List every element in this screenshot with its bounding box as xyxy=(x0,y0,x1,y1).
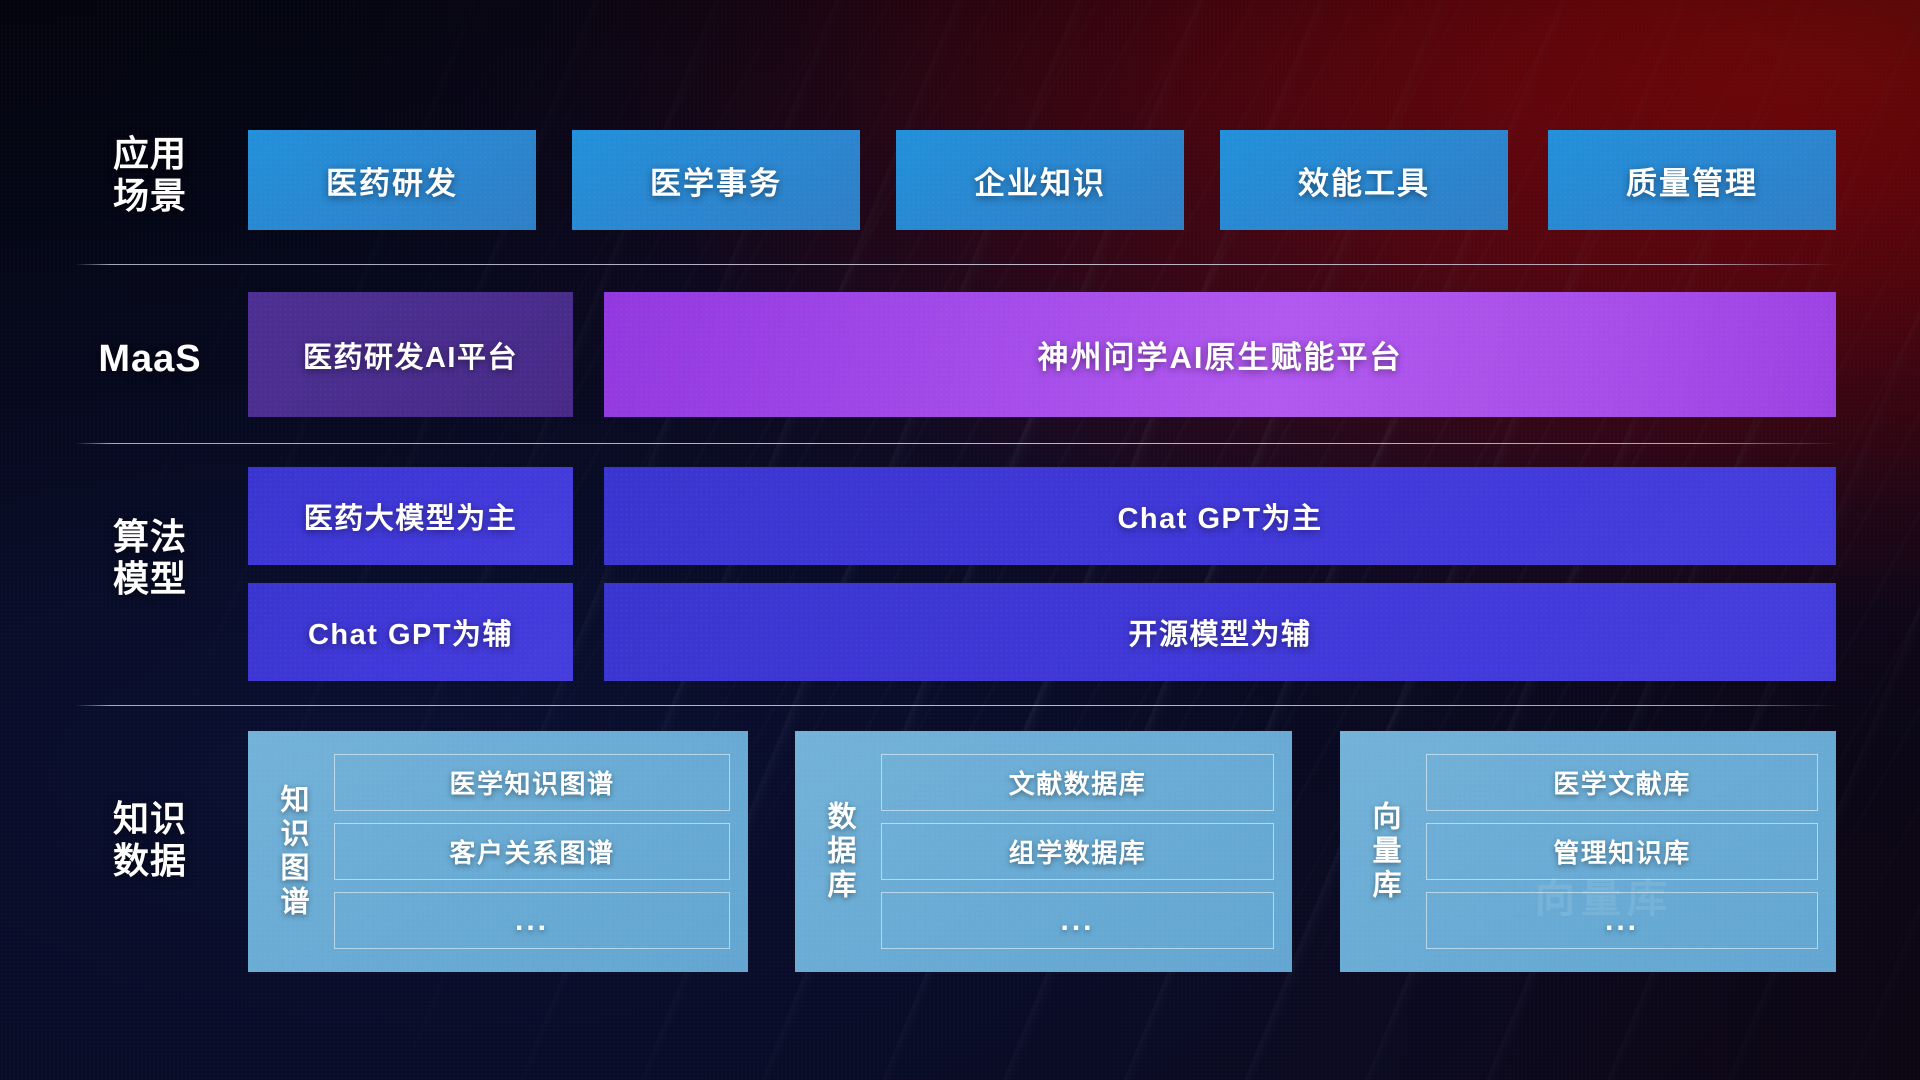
row-label-knowledge: 知识 数据 xyxy=(75,798,225,882)
maas-box-shenzhou-wenxue-platform[interactable]: 神州问学AI原生赋能平台 xyxy=(604,292,1836,417)
knowledge-item-more-vector[interactable]: ... xyxy=(1426,892,1818,949)
knowledge-item-more-database-label: ... xyxy=(1060,904,1094,938)
row-label-knowledge-line1: 知识 xyxy=(75,798,225,840)
row-label-algorithm-line1: 算法 xyxy=(75,516,225,558)
app-box-enterprise-knowledge[interactable]: 企业知识 xyxy=(896,130,1184,230)
knowledge-panel-knowledge-graph-side-label: 知识图谱 xyxy=(262,743,322,960)
knowledge-panel-knowledge-graph-items: 医学知识图谱 客户关系图谱 ... xyxy=(322,743,730,960)
knowledge-item-more-database[interactable]: ... xyxy=(881,892,1274,949)
architecture-diagram: 应用 场景 医药研发 医学事务 企业知识 效能工具 质量管理 MaaS 医药研发… xyxy=(0,0,1920,1080)
app-box-medical-affairs-label: 医学事务 xyxy=(650,158,782,203)
knowledge-panel-database-items: 文献数据库 组学数据库 ... xyxy=(869,743,1274,960)
knowledge-panel-database-side-label: 数据库 xyxy=(809,743,869,960)
knowledge-item-more-vector-label: ... xyxy=(1605,904,1639,938)
row-label-application-line2: 场景 xyxy=(75,175,225,217)
app-box-medical-rd-label: 医药研发 xyxy=(326,158,458,203)
maas-box-shenzhou-wenxue-platform-label: 神州问学AI原生赋能平台 xyxy=(1038,332,1403,377)
row-label-algorithm-line2: 模型 xyxy=(75,558,225,600)
algo-box-chatgpt-secondary-label: Chat GPT为辅 xyxy=(308,611,513,653)
knowledge-item-omics-database[interactable]: 组学数据库 xyxy=(881,823,1274,880)
app-box-quality-management-label: 质量管理 xyxy=(1626,158,1758,203)
app-box-enterprise-knowledge-label: 企业知识 xyxy=(974,158,1106,203)
row-label-application: 应用 场景 xyxy=(75,133,225,217)
maas-box-medical-rd-ai-platform-label: 医药研发AI平台 xyxy=(303,334,518,376)
divider-maas-algorithm xyxy=(75,443,1840,444)
knowledge-item-management-knowledge-store[interactable]: 管理知识库 xyxy=(1426,823,1818,880)
divider-algorithm-knowledge xyxy=(75,705,1840,706)
app-box-medical-rd[interactable]: 医药研发 xyxy=(248,130,536,230)
app-box-quality-management[interactable]: 质量管理 xyxy=(1548,130,1836,230)
algo-box-chatgpt-primary-label: Chat GPT为主 xyxy=(1117,495,1322,537)
knowledge-item-omics-database-label: 组学数据库 xyxy=(1009,833,1147,870)
app-box-medical-affairs[interactable]: 医学事务 xyxy=(572,130,860,230)
knowledge-item-customer-relation-graph-label: 客户关系图谱 xyxy=(449,833,614,870)
knowledge-item-literature-database[interactable]: 文献数据库 xyxy=(881,754,1274,811)
knowledge-panel-knowledge-graph[interactable]: 知识图谱 医学知识图谱 客户关系图谱 ... xyxy=(248,731,748,972)
maas-box-medical-rd-ai-platform[interactable]: 医药研发AI平台 xyxy=(248,292,573,417)
algo-box-medical-llm-primary[interactable]: 医药大模型为主 xyxy=(248,467,573,565)
knowledge-panel-vector-store[interactable]: 向量库 向量库 医学文献库 管理知识库 ... xyxy=(1340,731,1836,972)
knowledge-panel-database[interactable]: 数据库 文献数据库 组学数据库 ... xyxy=(795,731,1292,972)
algo-box-opensource-secondary-label: 开源模型为辅 xyxy=(1128,611,1311,653)
row-label-maas: MaaS xyxy=(75,337,225,381)
knowledge-item-medical-knowledge-graph[interactable]: 医学知识图谱 xyxy=(334,754,730,811)
knowledge-item-management-knowledge-store-label: 管理知识库 xyxy=(1553,833,1691,870)
algo-box-chatgpt-secondary[interactable]: Chat GPT为辅 xyxy=(248,583,573,681)
row-label-knowledge-line2: 数据 xyxy=(75,840,225,882)
knowledge-item-more-graph[interactable]: ... xyxy=(334,892,730,949)
knowledge-item-medical-literature-store-label: 医学文献库 xyxy=(1553,764,1691,801)
divider-application-maas xyxy=(75,264,1840,265)
app-box-efficiency-tools[interactable]: 效能工具 xyxy=(1220,130,1508,230)
row-label-algorithm: 算法 模型 xyxy=(75,516,225,600)
algo-box-chatgpt-primary[interactable]: Chat GPT为主 xyxy=(604,467,1836,565)
knowledge-item-customer-relation-graph[interactable]: 客户关系图谱 xyxy=(334,823,730,880)
knowledge-panel-vector-store-side-label: 向量库 xyxy=(1354,743,1414,960)
row-label-maas-text: MaaS xyxy=(75,337,225,381)
knowledge-item-literature-database-label: 文献数据库 xyxy=(1009,764,1147,801)
algo-box-opensource-secondary[interactable]: 开源模型为辅 xyxy=(604,583,1836,681)
knowledge-item-more-graph-label: ... xyxy=(515,904,549,938)
app-box-efficiency-tools-label: 效能工具 xyxy=(1298,158,1430,203)
row-label-application-line1: 应用 xyxy=(75,133,225,175)
knowledge-item-medical-literature-store[interactable]: 医学文献库 xyxy=(1426,754,1818,811)
algo-box-medical-llm-primary-label: 医药大模型为主 xyxy=(304,495,518,537)
knowledge-panel-vector-store-items: 医学文献库 管理知识库 ... xyxy=(1414,743,1818,960)
knowledge-item-medical-knowledge-graph-label: 医学知识图谱 xyxy=(449,764,614,801)
